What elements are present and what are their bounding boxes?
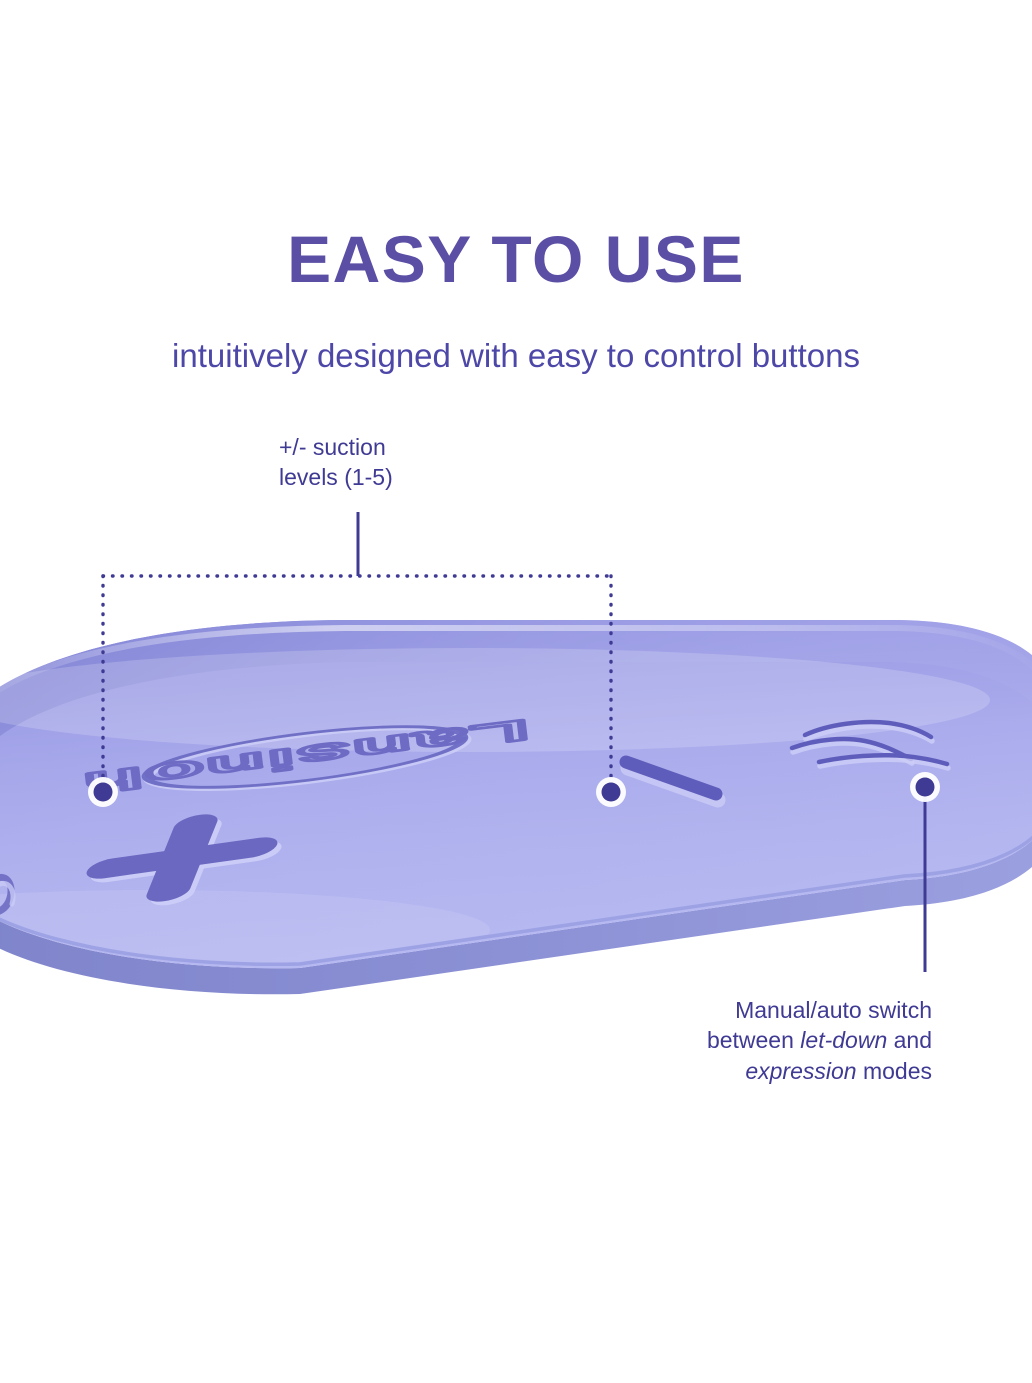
- callout-mode-switch: Manual/auto switch between let-down and …: [560, 995, 932, 1086]
- callout-mode-line3-emphasis: expression: [745, 1058, 856, 1084]
- infographic-canvas: Lansinoh: [0, 0, 1032, 1378]
- product-image: Lansinoh: [0, 0, 1032, 1378]
- callout-mode-line2-suffix: and: [887, 1027, 932, 1053]
- callout-suction-levels: +/- suction levels (1-5): [279, 432, 539, 493]
- product-svg: Lansinoh: [0, 0, 1032, 1378]
- callout-mode-line1: Manual/auto switch: [560, 995, 932, 1025]
- callout-mode-line2-emphasis: let-down: [800, 1027, 887, 1053]
- page-title: EASY TO USE: [0, 226, 1032, 292]
- callout-suction-line2: levels (1-5): [279, 462, 539, 492]
- callout-mode-line2: between let-down and: [560, 1025, 932, 1055]
- callout-mode-line3-suffix: modes: [857, 1058, 932, 1084]
- page-subtitle: intuitively designed with easy to contro…: [0, 336, 1032, 376]
- callout-mode-line2-prefix: between: [707, 1027, 800, 1053]
- callout-mode-line3: expression modes: [560, 1056, 932, 1086]
- callout-suction-line1: +/- suction: [279, 432, 539, 462]
